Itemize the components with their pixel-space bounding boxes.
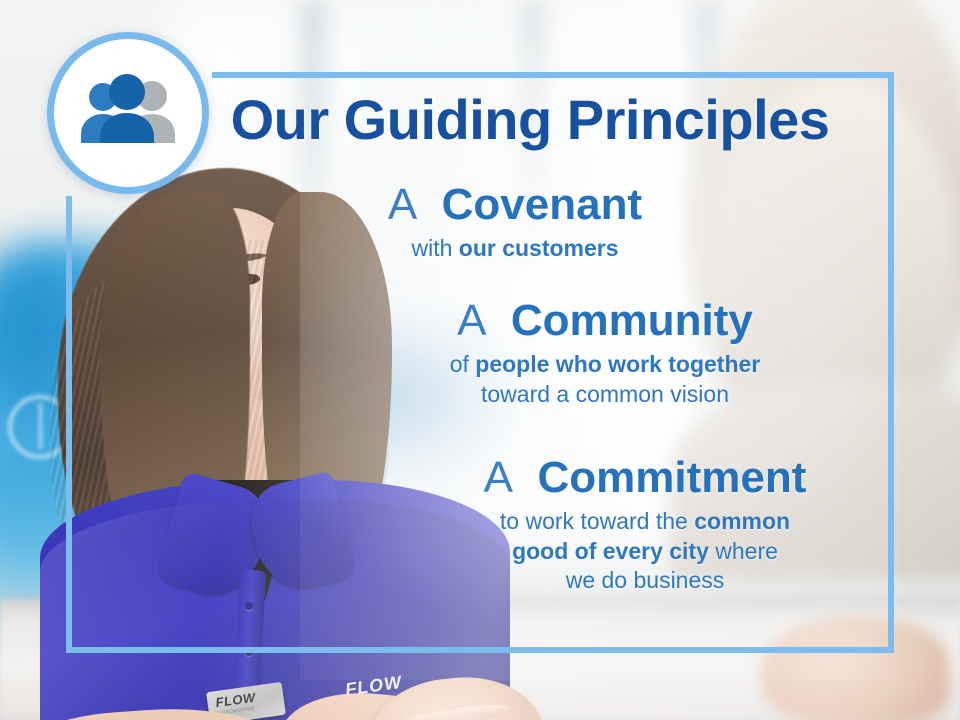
principle-keyword: Commitment: [537, 453, 806, 502]
principle-heading: A Community: [345, 298, 865, 344]
principle-text-run: to work toward the: [500, 508, 694, 534]
principle-text-run: where: [709, 538, 778, 564]
principle-heading: A Covenant: [300, 182, 730, 228]
principle-covenant: A Covenant with our customers: [300, 182, 730, 264]
principle-description: to work toward the common good of every …: [395, 507, 895, 595]
principle-line: good of every city where: [395, 537, 895, 566]
principle-text-run: our customers: [459, 235, 619, 261]
principle-text-run: good of every city: [512, 538, 709, 564]
principle-keyword: Community: [511, 296, 753, 345]
poster-text-content: Our Guiding Principles A Covenant with o…: [0, 0, 960, 720]
principle-text-run: toward a common vision: [481, 381, 729, 407]
principle-commitment: A Commitment to work toward the common g…: [395, 455, 895, 596]
principle-article: A: [484, 453, 526, 502]
principle-description: with our customers: [300, 234, 730, 263]
principle-line: with our customers: [300, 234, 730, 263]
principle-description: of people who work together toward a com…: [345, 350, 865, 409]
principle-article: A: [388, 180, 430, 229]
principle-text-run: common: [694, 508, 790, 534]
principle-line: to work toward the common: [395, 507, 895, 536]
principle-line: we do business: [395, 566, 895, 595]
principle-article: A: [457, 296, 499, 345]
principle-text-run: people who work together: [475, 351, 760, 377]
poster-canvas: FLOW FLOW AUTOMOTIVE: [0, 0, 960, 720]
principle-community: A Community of people who work together …: [345, 298, 865, 409]
principle-text-run: we do business: [566, 567, 725, 593]
principle-text-run: of: [450, 351, 476, 377]
principle-heading: A Commitment: [395, 455, 895, 501]
principle-keyword: Covenant: [442, 180, 642, 229]
page-title: Our Guiding Principles: [180, 92, 880, 148]
principle-line: of people who work together: [345, 350, 865, 379]
principle-text-run: with: [411, 235, 458, 261]
principle-line: toward a common vision: [345, 380, 865, 409]
